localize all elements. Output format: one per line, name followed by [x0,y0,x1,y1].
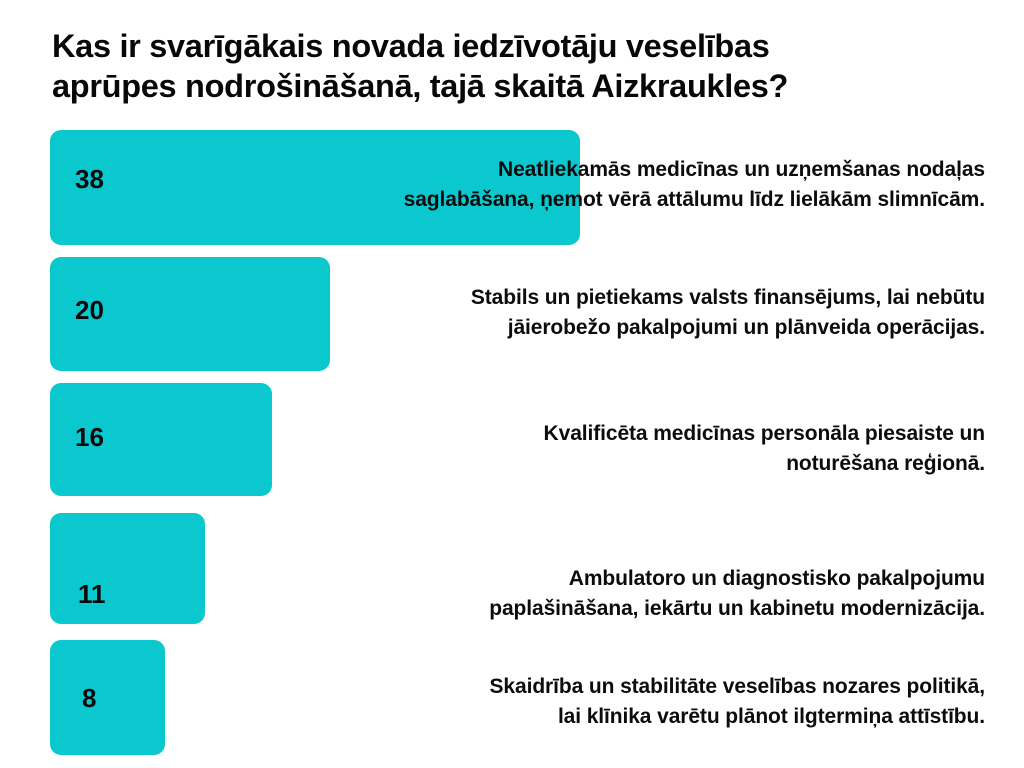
bar-label: Ambulatoro un diagnostisko pakalpojumu p… [185,564,985,624]
bar-label: Neatliekamās medicīnas un uzņemšanas nod… [185,155,985,215]
bar-rect[interactable] [50,513,205,624]
bar-row: 11Ambulatoro un diagnostisko pakalpojumu… [0,513,1024,624]
bar-label: Stabils un pietiekams valsts finansējums… [185,283,985,343]
bar-label: Skaidrība un stabilitāte veselības nozar… [185,672,985,732]
bar-value: 11 [78,581,106,607]
bar-row: 8Skaidrība un stabilitāte veselības noza… [0,640,1024,755]
bar-chart-poster: Kas ir svarīgākais novada iedzīvotāju ve… [0,0,1024,768]
bar-value: 8 [82,685,96,711]
bar-value: 38 [75,166,104,192]
bar-row: 20Stabils un pietiekams valsts finansēju… [0,257,1024,371]
bar-value: 16 [75,424,104,450]
bar-row: 38Neatliekamās medicīnas un uzņemšanas n… [0,130,1024,245]
bar-value: 20 [75,297,104,323]
bar-row: 16Kvalificēta medicīnas personāla piesai… [0,383,1024,496]
bar-label: Kvalificēta medicīnas personāla piesaist… [185,419,985,479]
page-title: Kas ir svarīgākais novada iedzīvotāju ve… [52,26,982,106]
bar-rect[interactable] [50,640,165,755]
